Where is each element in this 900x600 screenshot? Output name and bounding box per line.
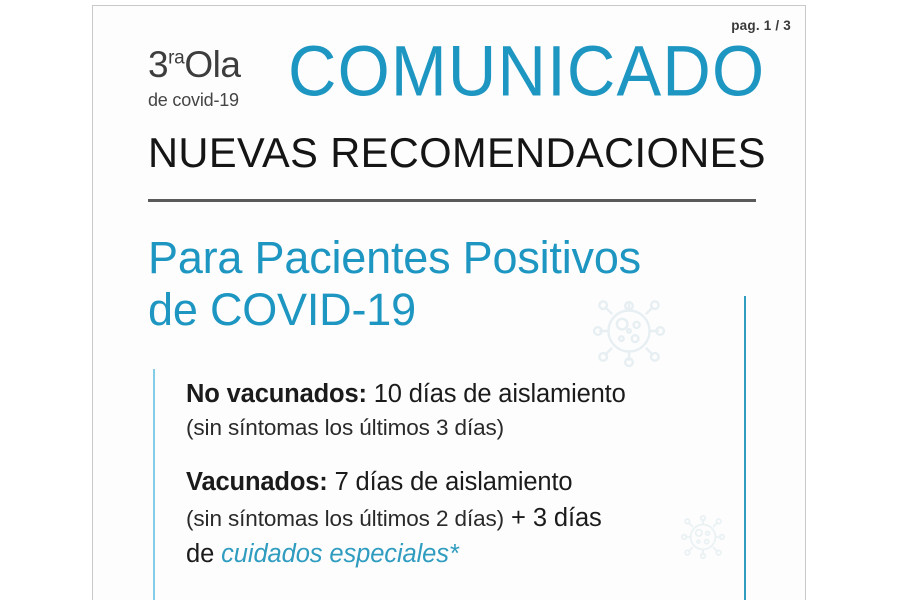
wave-label: 3raOla — [148, 46, 278, 83]
recommendations-list: No vacunados: 10 días de aislamiento (si… — [186, 378, 746, 594]
unvaccinated-line: No vacunados: 10 días de aislamiento — [186, 378, 746, 412]
unvaccinated-label: No vacunados: — [186, 380, 367, 408]
page-indicator: pag. 1 / 3 — [731, 18, 791, 33]
special-care-emphasis: cuidados especiales* — [221, 540, 459, 568]
wave-number: 3 — [148, 44, 168, 85]
special-care-prefix: de — [186, 540, 221, 568]
wave-ordinal-suffix: ra — [168, 48, 184, 69]
masthead-title: COMUNICADO — [288, 36, 765, 107]
section-heading: Para Pacientes Positivos de COVID-19 — [148, 232, 788, 336]
section-heading-line-1: Para Pacientes Positivos — [148, 232, 641, 283]
virus-icon — [591, 293, 667, 369]
communicado-card: pag. 1 / 3 3raOla de covid-19 COMUNICADO… — [92, 5, 806, 600]
special-care-line: de cuidados especiales* — [186, 536, 746, 572]
masthead-subtitle: NUEVAS RECOMENDACIONES — [148, 131, 767, 175]
masthead: 3raOla de covid-19 COMUNICADO — [148, 44, 773, 122]
list-item: No vacunados: 10 días de aislamiento (si… — [186, 378, 746, 444]
vaccinated-extra-days: + 3 días — [504, 504, 602, 532]
unvaccinated-value: 10 días de aislamiento — [367, 380, 626, 408]
list-item: Vacunados: 7 días de aislamiento (sin sí… — [186, 466, 746, 572]
wave-word: Ola — [184, 44, 240, 85]
slide-canvas: pag. 1 / 3 3raOla de covid-19 COMUNICADO… — [0, 0, 900, 600]
vaccinated-note-line: (sin síntomas los últimos 2 días) + 3 dí… — [186, 500, 746, 536]
wave-label-block: 3raOla de covid-19 — [148, 46, 278, 109]
vaccinated-label: Vacunados: — [186, 468, 328, 496]
vaccinated-value: 7 días de aislamiento — [328, 468, 573, 496]
unvaccinated-note: (sin síntomas los últimos 3 días) — [186, 412, 746, 444]
section-heading-line-2: de COVID-19 — [148, 284, 788, 336]
vaccinated-note: (sin síntomas los últimos 2 días) — [186, 506, 504, 531]
body-accent-rule-left — [153, 369, 155, 600]
wave-sublabel: de covid-19 — [148, 91, 278, 109]
header-divider — [148, 199, 756, 202]
vaccinated-line: Vacunados: 7 días de aislamiento — [186, 466, 746, 500]
